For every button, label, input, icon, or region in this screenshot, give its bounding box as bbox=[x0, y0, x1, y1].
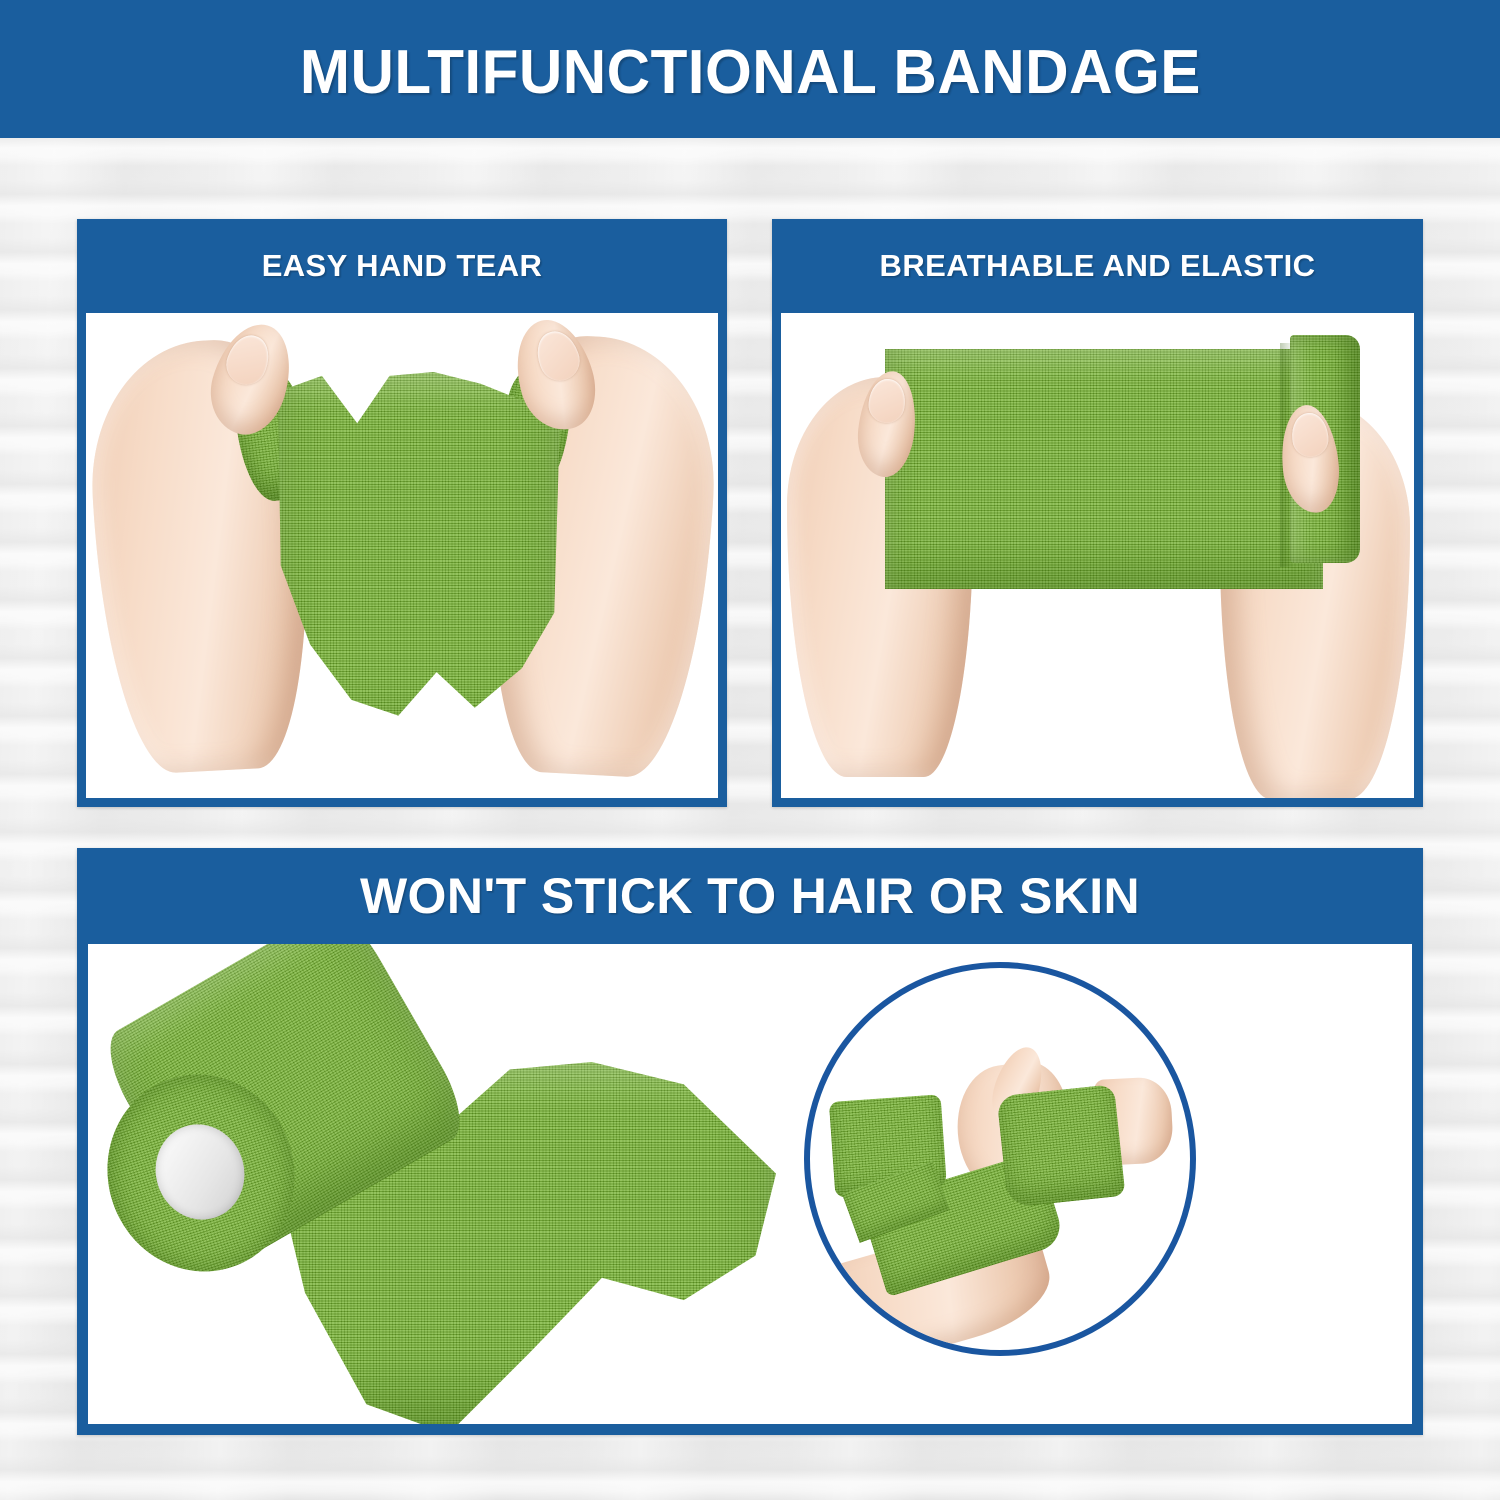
circular-inset-wrapped-hand bbox=[804, 962, 1196, 1356]
feature-card-title-breathable-and-elastic: BREATHABLE AND ELASTIC bbox=[772, 219, 1423, 313]
feature-image-easy-hand-tear bbox=[86, 313, 718, 798]
feature-card-wont-stick-to-hair-or-skin: WON'T STICK TO HAIR OR SKIN bbox=[77, 848, 1423, 1435]
stretched-bandage-strip bbox=[885, 349, 1323, 589]
bandage-wrap-hand bbox=[996, 1084, 1125, 1208]
bandage-stretch-illustration bbox=[781, 313, 1414, 798]
bandage-roll-illustration bbox=[88, 944, 1412, 1424]
feature-card-title-wont-stick-to-hair-or-skin: WON'T STICK TO HAIR OR SKIN bbox=[77, 848, 1423, 944]
feature-card-easy-hand-tear: EASY HAND TEAR bbox=[77, 219, 727, 807]
hand-tear-illustration bbox=[86, 313, 718, 798]
feature-image-breathable-and-elastic bbox=[781, 313, 1414, 798]
feature-image-wont-stick-to-hair-or-skin bbox=[88, 944, 1412, 1424]
feature-card-title-easy-hand-tear: EASY HAND TEAR bbox=[77, 219, 727, 313]
infographic-stage: MULTIFUNCTIONAL BANDAGE EASY HAND TEAR B… bbox=[0, 0, 1500, 1500]
page-title: MULTIFUNCTIONAL BANDAGE bbox=[300, 37, 1201, 108]
feature-card-breathable-and-elastic: BREATHABLE AND ELASTIC bbox=[772, 219, 1423, 807]
header-banner: MULTIFUNCTIONAL BANDAGE bbox=[0, 0, 1500, 138]
